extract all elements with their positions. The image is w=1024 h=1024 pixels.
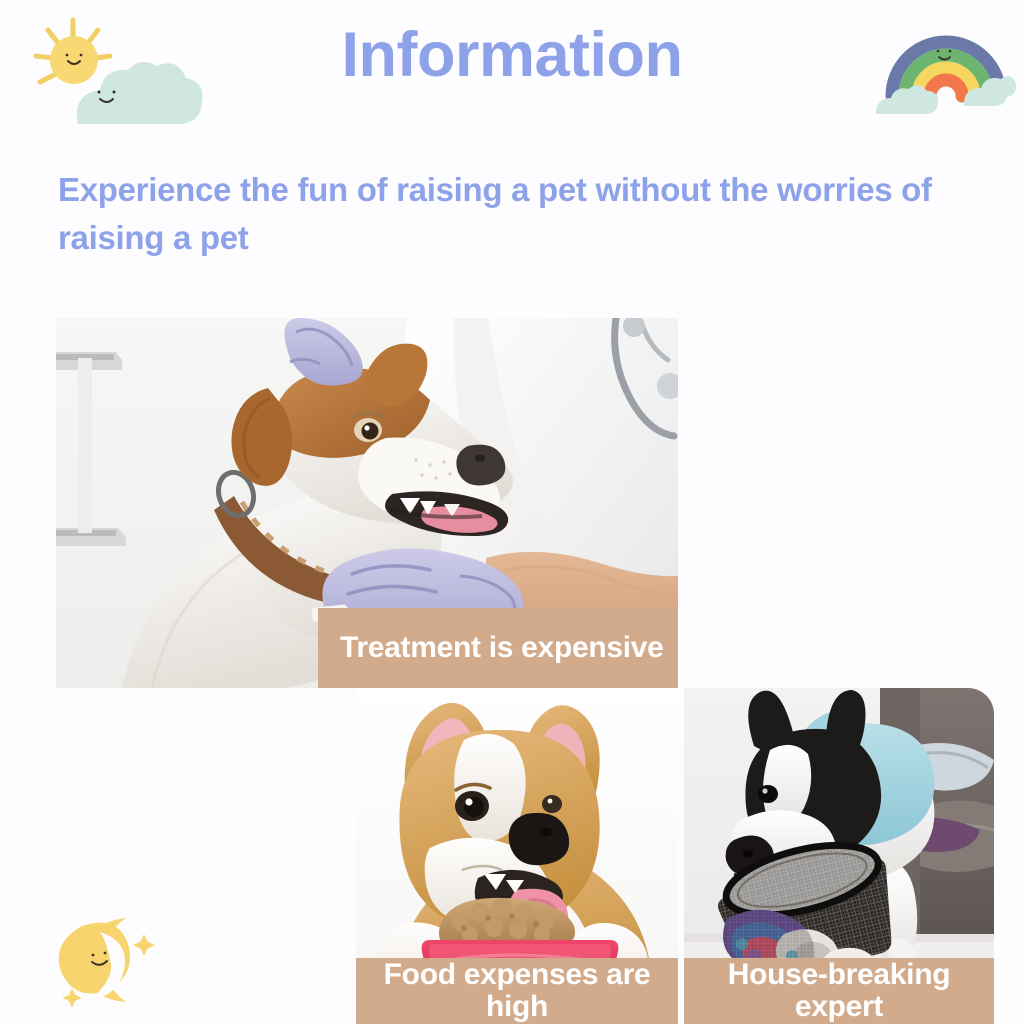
page-title: Information	[0, 22, 1024, 88]
caption-treatment: Treatment is expensive	[318, 608, 678, 688]
page-subtitle: Experience the fun of raising a pet with…	[58, 166, 958, 261]
moon-stars-icon	[52, 908, 182, 1012]
caption-food: Food expenses are high	[356, 958, 678, 1024]
caption-housebreaking: House-breaking expert	[684, 958, 994, 1024]
